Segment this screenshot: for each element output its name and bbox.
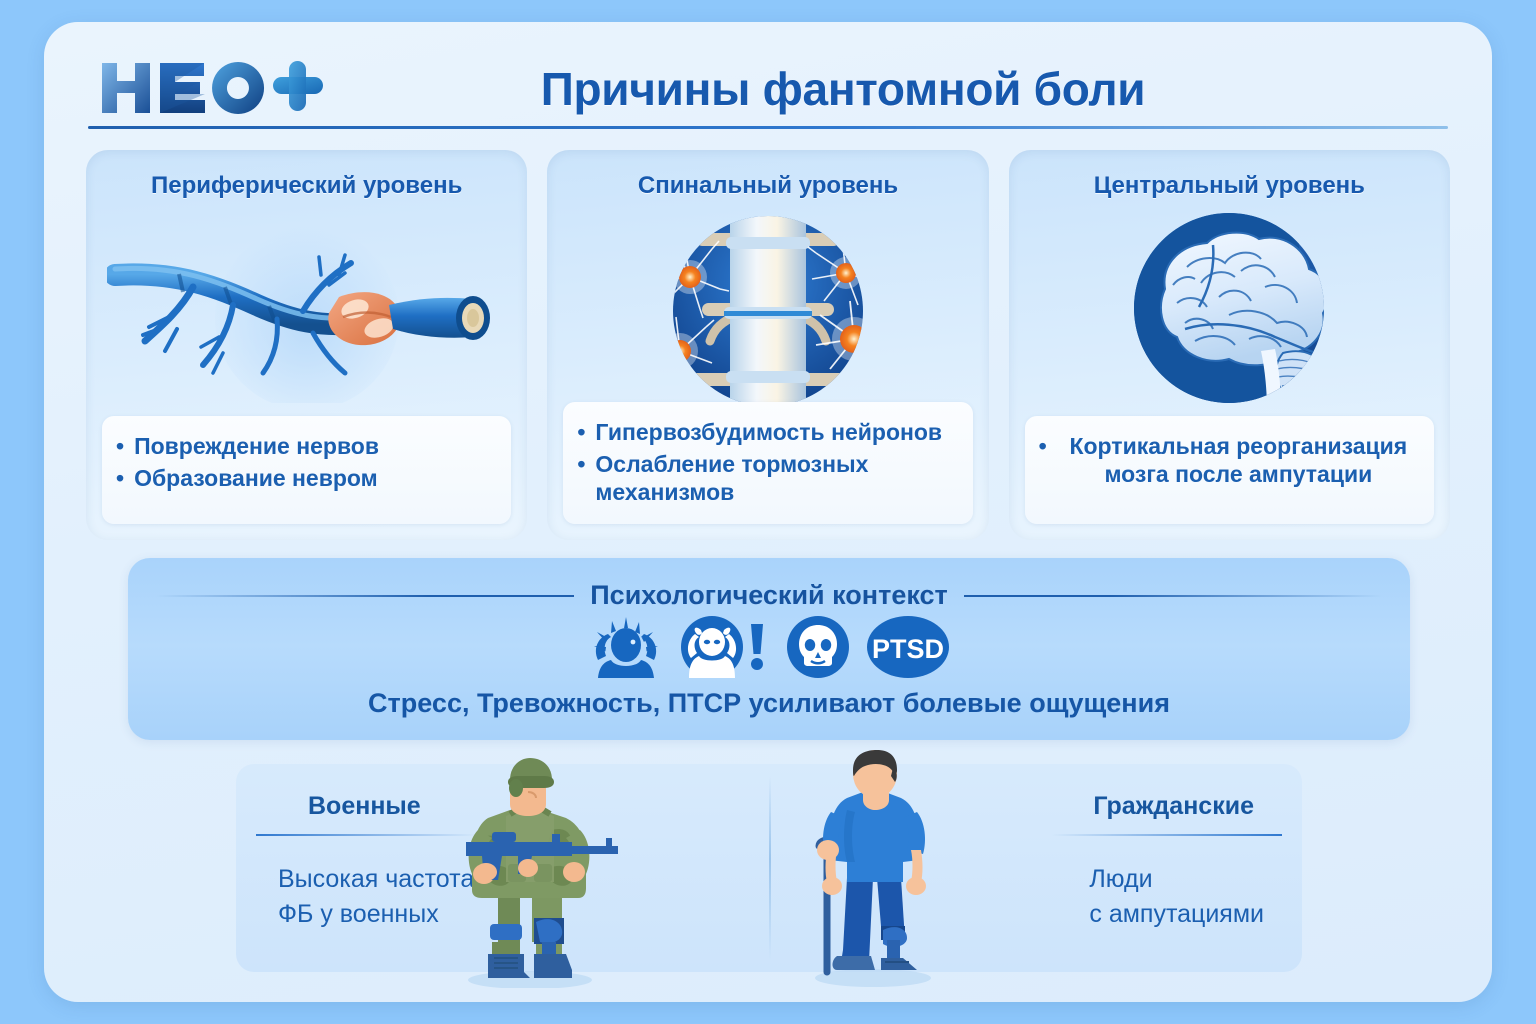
skull-icon — [787, 616, 849, 683]
psychological-icon-row: PTSD — [128, 616, 1410, 683]
anxiety-person-exclamation-icon — [681, 616, 769, 683]
card-title-central: Центральный уровень — [1009, 172, 1450, 200]
civilian-amputee-with-cane-figure — [797, 750, 947, 988]
level-card-peripheral[interactable]: Периферический уровень — [86, 150, 527, 540]
ptsd-badge-icon: PTSD — [867, 616, 949, 683]
bullet-item: • Повреждение нервов — [116, 432, 497, 460]
card-title-peripheral: Периферический уровень — [86, 172, 527, 200]
psychological-context-panel: Психологический контекст — [128, 558, 1410, 740]
bullet-dot: • — [116, 432, 124, 460]
bullet-text: Повреждение нервов — [134, 432, 379, 460]
comparison-divider — [769, 776, 771, 960]
level-card-central[interactable]: Центральный уровень — [1009, 150, 1450, 540]
bullet-dot: • — [577, 418, 585, 446]
level-card-spinal[interactable]: Спинальный уровень — [547, 150, 988, 540]
comparison-heading-civilian: Гражданские — [1093, 792, 1254, 821]
soldier-with-prosthetic-leg-figure — [432, 756, 628, 988]
bullet-dot: • — [116, 464, 124, 492]
bullet-item: • Ослабление тормозных механизмов — [577, 450, 958, 506]
comparison-text-line: с ампутациями — [1089, 897, 1264, 932]
poster-header: Причины фантомной боли — [44, 22, 1492, 126]
bullet-item: • Кортикальная реорганизация мозга после… — [1039, 432, 1420, 488]
stress-person-icon — [589, 616, 663, 683]
comparison-panel-civilian[interactable]: Гражданские Люди с ампутациями — [769, 764, 1302, 972]
bullet-text: Ослабление тормозных механизмов — [595, 450, 958, 506]
header-rule-left — [156, 595, 574, 597]
psychological-context-header: Психологический контекст — [156, 580, 1382, 611]
comparison-panel-military[interactable]: Военные Высокая частота ФБ у военных — [236, 764, 769, 972]
population-comparison: Военные Высокая частота ФБ у военных — [236, 764, 1302, 972]
bullet-dot: • — [577, 450, 585, 478]
page-title: Причины фантомной боли — [44, 62, 1492, 116]
bullet-box-spinal: • Гипервозбудимость нейронов • Ослаблени… — [563, 402, 972, 524]
comparison-rule-civilian — [1052, 834, 1282, 836]
bullet-box-central: • Кортикальная реорганизация мозга после… — [1025, 416, 1434, 524]
bullet-item: • Гипервозбудимость нейронов — [577, 418, 958, 446]
comparison-text-line: Люди — [1089, 862, 1264, 897]
bullet-text: Образование невром — [134, 464, 378, 492]
psychological-context-caption: Стресс, Тревожность, ПТСР усиливают боле… — [128, 688, 1410, 719]
card-title-spinal: Спинальный уровень — [547, 172, 988, 200]
level-cards: Периферический уровень — [86, 150, 1450, 540]
brain-head-silhouette-illustration — [1009, 208, 1450, 408]
comparison-heading-military: Военные — [308, 792, 421, 821]
comparison-text-civilian: Люди с ампутациями — [1089, 862, 1264, 931]
ptsd-badge-label: PTSD — [872, 634, 944, 664]
bullet-text: Гипервозбудимость нейронов — [595, 418, 942, 446]
damaged-nerve-neuroma-illustration — [86, 208, 527, 408]
bullet-text: Кортикальная реорганизация мозга после а… — [1057, 432, 1420, 488]
header-divider — [88, 126, 1448, 129]
header-rule-right — [964, 595, 1382, 597]
psychological-context-title: Психологический контекст — [590, 580, 947, 611]
bullet-dot: • — [1039, 432, 1047, 460]
spine-hyperexcitable-neurons-illustration — [547, 208, 988, 408]
bullet-box-peripheral: • Повреждение нервов • Образование невро… — [102, 416, 511, 524]
bullet-item: • Образование невром — [116, 464, 497, 492]
infographic-poster: Причины фантомной боли Периферический ур… — [44, 22, 1492, 1002]
